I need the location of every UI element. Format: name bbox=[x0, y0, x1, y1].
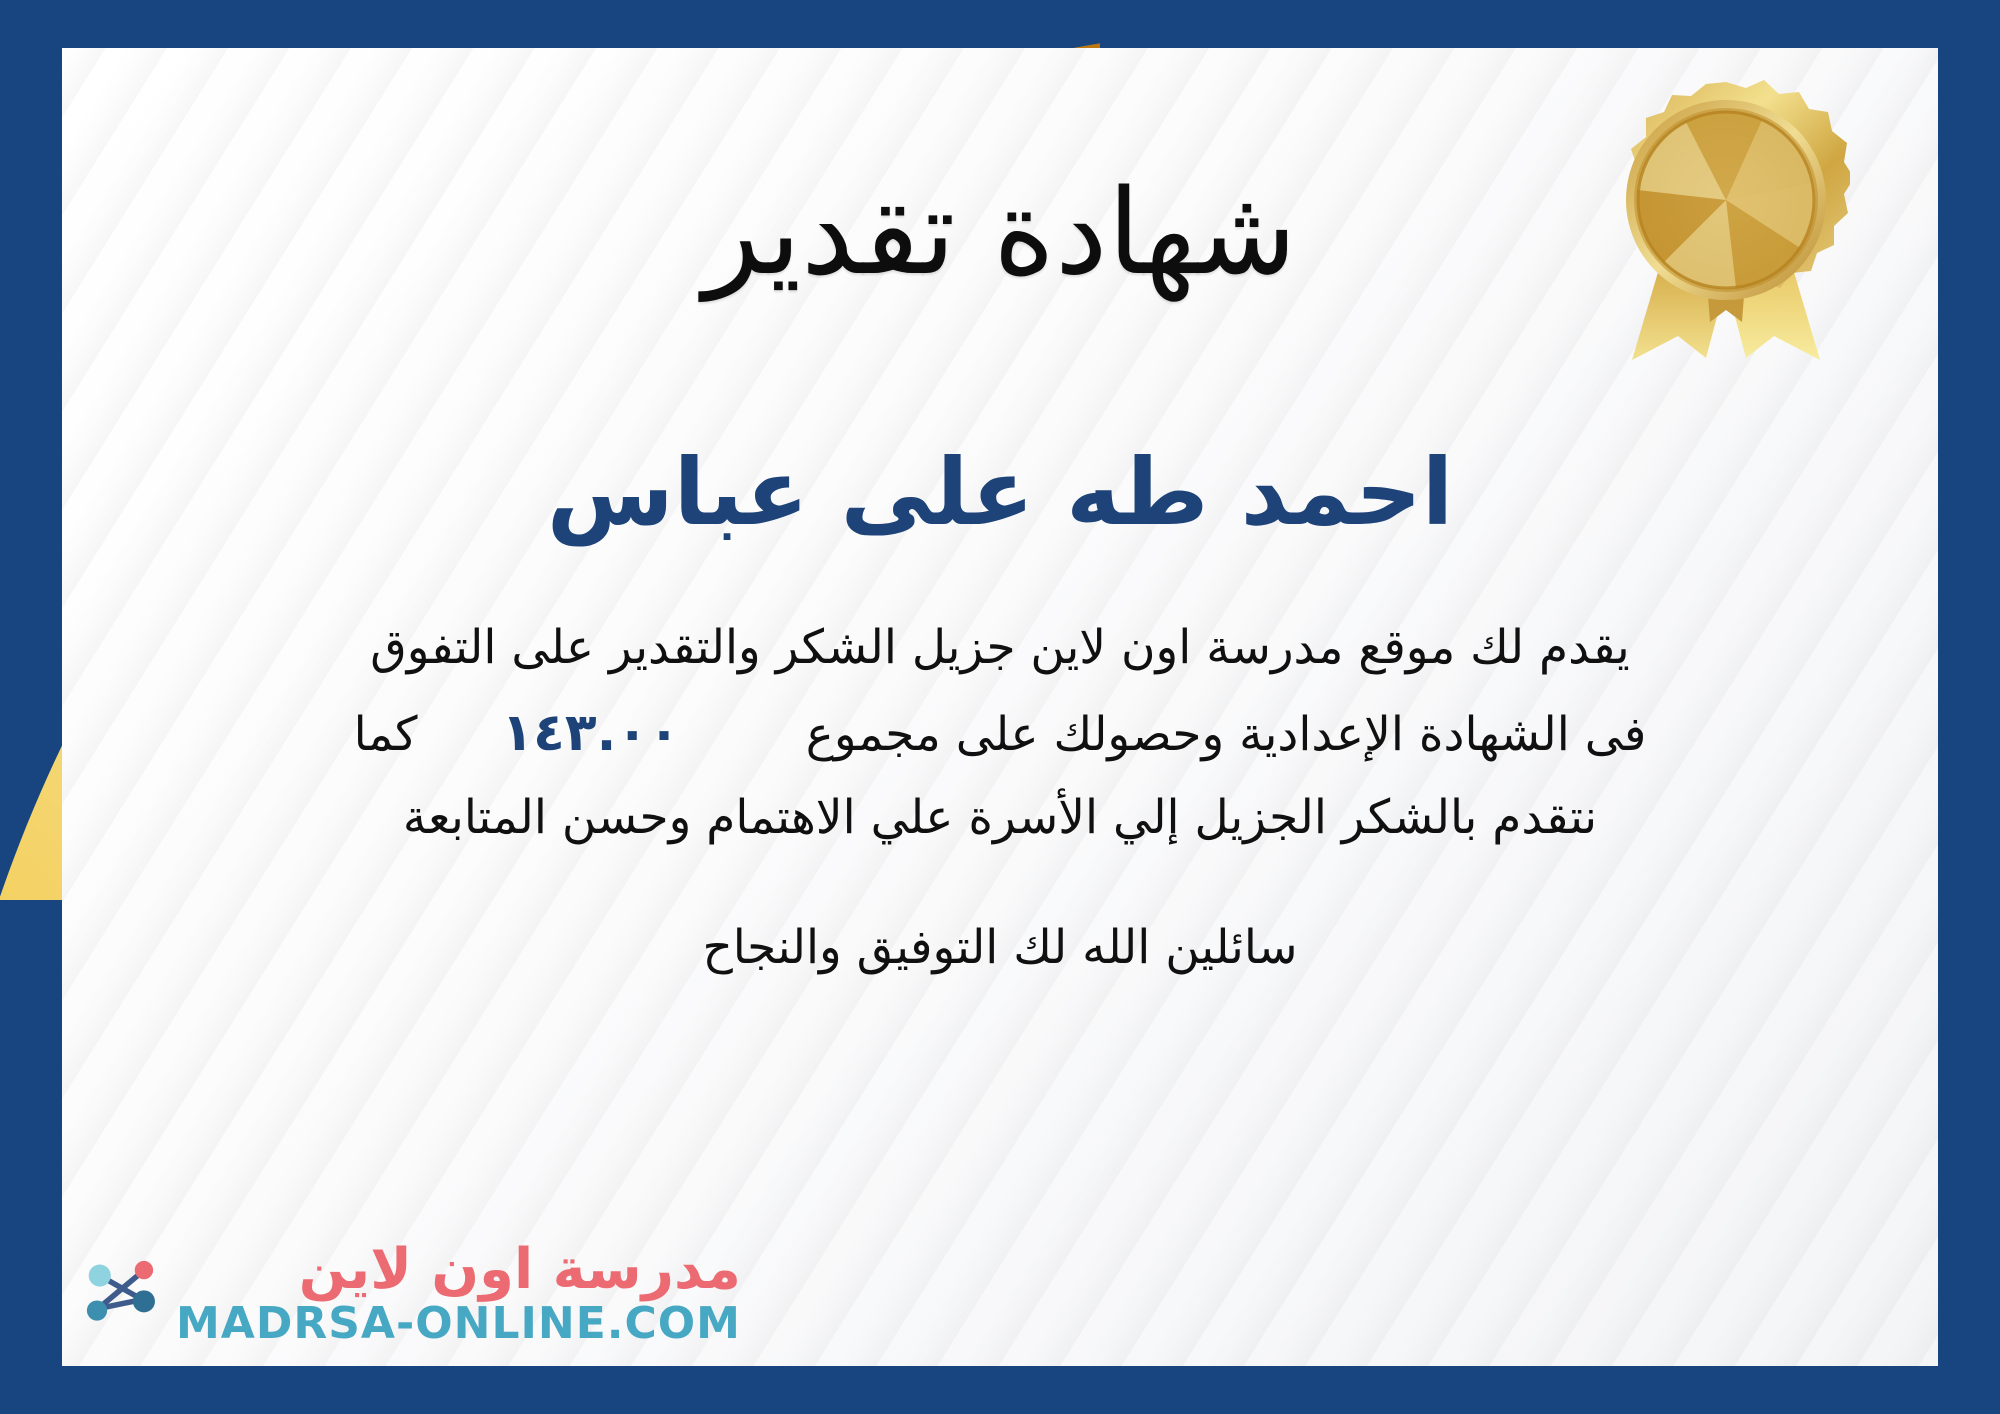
closing-line: سائلين الله لك التوفيق والنجاح bbox=[62, 920, 1938, 975]
total-score-value: ١٤٣.٠٠ bbox=[475, 703, 705, 763]
site-logo[interactable]: مدرسة اون لاين MADRSA-ONLINE.COM bbox=[74, 1241, 741, 1348]
body-line-1: يقدم لك موقع مدرسة اون لاين جزيل الشكر و… bbox=[82, 608, 1918, 689]
logo-text-group: مدرسة اون لاين MADRSA-ONLINE.COM bbox=[176, 1241, 741, 1348]
logo-arabic-name: مدرسة اون لاين bbox=[299, 1241, 741, 1300]
certificate-paper: شهادة تقدير احمد طه على عباس يقدم لك موق… bbox=[62, 48, 1938, 1366]
body-line-3: نتقدم بالشكر الجزيل إلي الأسرة علي الاهت… bbox=[82, 778, 1918, 859]
network-nodes-icon bbox=[74, 1248, 166, 1340]
certificate-body: يقدم لك موقع مدرسة اون لاين جزيل الشكر و… bbox=[82, 608, 1918, 859]
body-line-2-left: كما bbox=[354, 707, 418, 762]
logo-domain: MADRSA-ONLINE.COM bbox=[176, 1300, 741, 1348]
recipient-name: احمد طه على عباس bbox=[62, 440, 1938, 546]
body-line-2-right: فى الشهادة الإعدادية وحصولك على مجموع bbox=[806, 707, 1647, 762]
body-line-2: فى الشهادة الإعدادية وحصولك على مجموع ١٤… bbox=[82, 689, 1918, 778]
gold-award-medal-icon bbox=[1602, 74, 1850, 364]
certificate-canvas: شهادة تقدير احمد طه على عباس يقدم لك موق… bbox=[0, 0, 2000, 1414]
